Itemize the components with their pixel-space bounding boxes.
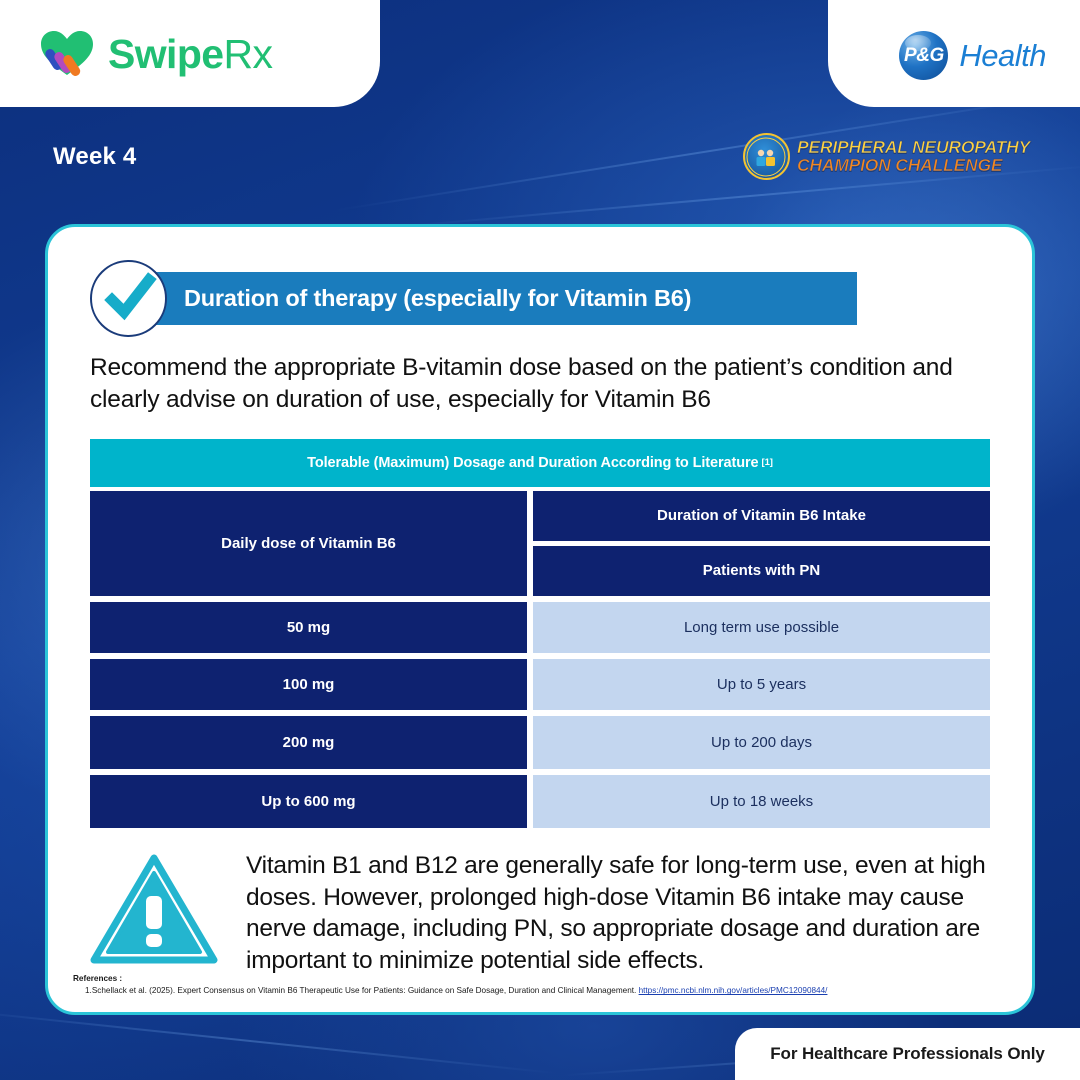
table-cell-dose: 200 mg: [90, 716, 527, 769]
seal-people-icon: [746, 137, 786, 177]
table-cell-duration: Up to 18 weeks: [533, 775, 990, 828]
references-item: 1.Schellack et al. (2025). Expert Consen…: [73, 985, 827, 998]
challenge-wordmark: PERIPHERAL NEUROPATHY CHAMPION CHALLENGE: [797, 139, 1030, 174]
warning-note-text: Vitamin B1 and B12 are generally safe fo…: [246, 850, 990, 977]
table-cell-dose: 100 mg: [90, 659, 527, 710]
table-cell-duration: Up to 200 days: [533, 716, 990, 769]
swiperx-wordmark: SwipeRx: [108, 34, 272, 75]
week-label: Week 4: [53, 143, 136, 171]
pg-health-logo: P&G Health: [899, 31, 1046, 80]
bg-streak-3: [0, 1008, 558, 1075]
table-row: 50 mg Long term use possible: [90, 602, 990, 653]
warning-triangle-icon: [90, 854, 222, 971]
swiperx-word-swipe: Swipe: [108, 31, 223, 77]
challenge-seal-icon: [743, 133, 790, 180]
hcp-notice-text: For Healthcare Professionals Only: [770, 1044, 1044, 1064]
dosage-table: Tolerable (Maximum) Dosage and Duration …: [90, 439, 990, 828]
pg-circle-mark: P&G: [899, 31, 948, 80]
checkmark-icon: [101, 271, 157, 327]
table-header-right-group: Duration of Vitamin B6 Intake Patients w…: [533, 491, 990, 596]
table-caption-text: Tolerable (Maximum) Dosage and Duration …: [307, 455, 758, 471]
table-header-right-sub: Patients with PN: [533, 546, 990, 596]
swiperx-word-rx: Rx: [223, 31, 272, 77]
table-caption: Tolerable (Maximum) Dosage and Duration …: [90, 439, 990, 487]
references-item-text: 1.Schellack et al. (2025). Expert Consen…: [85, 986, 636, 995]
references-link[interactable]: https://pmc.ncbi.nlm.nih.gov/articles/PM…: [639, 986, 828, 995]
check-circle-icon: [90, 260, 167, 337]
hcp-notice-pill: For Healthcare Professionals Only: [735, 1028, 1080, 1080]
section-banner-title: Duration of therapy (especially for Vita…: [184, 285, 691, 312]
table-caption-superscript: [1]: [762, 457, 773, 468]
table-header-row: Daily dose of Vitamin B6 Duration of Vit…: [90, 491, 990, 596]
table-row: 200 mg Up to 200 days: [90, 716, 990, 769]
challenge-badge: PERIPHERAL NEUROPATHY CHAMPION CHALLENGE: [743, 133, 1030, 180]
table-row: Up to 600 mg Up to 18 weeks: [90, 775, 990, 828]
table-header-left: Daily dose of Vitamin B6: [90, 491, 527, 596]
table-header-right-main: Duration of Vitamin B6 Intake: [533, 491, 990, 541]
infographic-page: SwipeRx P&G Health Week 4 PERIPHERAL NEU…: [0, 0, 1080, 1080]
table-cell-dose: Up to 600 mg: [90, 775, 527, 828]
warning-note: Vitamin B1 and B12 are generally safe fo…: [90, 850, 990, 977]
pg-mark-text: P&G: [904, 45, 944, 67]
references-title: References :: [73, 973, 827, 986]
challenge-line-2: CHAMPION CHALLENGE: [797, 157, 1030, 175]
exclamation-triangle-icon: [90, 854, 218, 966]
main-content-card: Duration of therapy (especially for Vita…: [45, 224, 1035, 1015]
table-cell-duration: Long term use possible: [533, 602, 990, 653]
pg-health-word: Health: [959, 38, 1046, 74]
swiperx-heart-icon: [38, 28, 96, 80]
table-cell-duration: Up to 5 years: [533, 659, 990, 710]
swiperx-logo: SwipeRx: [38, 28, 272, 80]
section-banner: Duration of therapy (especially for Vita…: [146, 272, 857, 325]
table-cell-dose: 50 mg: [90, 602, 527, 653]
references-block: References : 1.Schellack et al. (2025). …: [73, 973, 827, 998]
table-row: 100 mg Up to 5 years: [90, 659, 990, 710]
intro-paragraph: Recommend the appropriate B-vitamin dose…: [90, 352, 970, 417]
challenge-line-1: PERIPHERAL NEUROPATHY: [797, 139, 1030, 157]
